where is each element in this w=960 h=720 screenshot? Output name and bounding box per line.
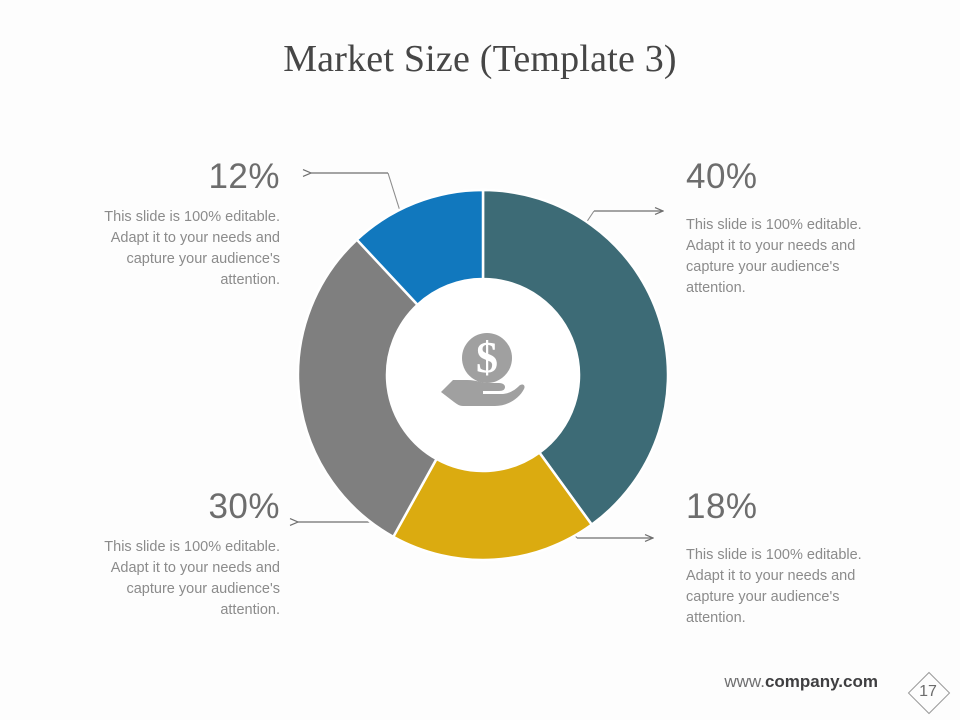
callout-top-right: 40% This slide is 100% editable. Adapt i… xyxy=(686,157,891,299)
callout-body-12: This slide is 100% editable. Adapt it to… xyxy=(80,207,280,291)
callout-percent-30: 30% xyxy=(80,487,280,527)
svg-text:$: $ xyxy=(476,333,498,382)
slide-footer: www.company.com xyxy=(0,660,960,720)
donut-chart: $ xyxy=(290,182,676,568)
footer-url-domain: company.com xyxy=(765,672,878,691)
hand-holding-money-icon: $ xyxy=(433,320,533,420)
callout-percent-40: 40% xyxy=(686,157,891,197)
page-number-badge: 17 xyxy=(906,670,950,714)
page-title: Market Size (Template 3) xyxy=(0,36,960,82)
callout-bottom-right: 18% This slide is 100% editable. Adapt i… xyxy=(686,487,891,629)
callout-body-30: This slide is 100% editable. Adapt it to… xyxy=(80,537,280,621)
footer-url[interactable]: www.company.com xyxy=(724,671,878,693)
callout-body-18: This slide is 100% editable. Adapt it to… xyxy=(686,545,891,629)
callout-body-40: This slide is 100% editable. Adapt it to… xyxy=(686,215,891,299)
footer-url-prefix: www. xyxy=(724,672,765,691)
slide-canvas: Market Size (Template 3) xyxy=(0,0,960,720)
callout-percent-12: 12% xyxy=(80,157,280,197)
callout-top-left: 12% This slide is 100% editable. Adapt i… xyxy=(80,157,280,291)
callout-bottom-left: 30% This slide is 100% editable. Adapt i… xyxy=(80,487,280,621)
page-number: 17 xyxy=(906,670,950,714)
callout-percent-18: 18% xyxy=(686,487,891,527)
